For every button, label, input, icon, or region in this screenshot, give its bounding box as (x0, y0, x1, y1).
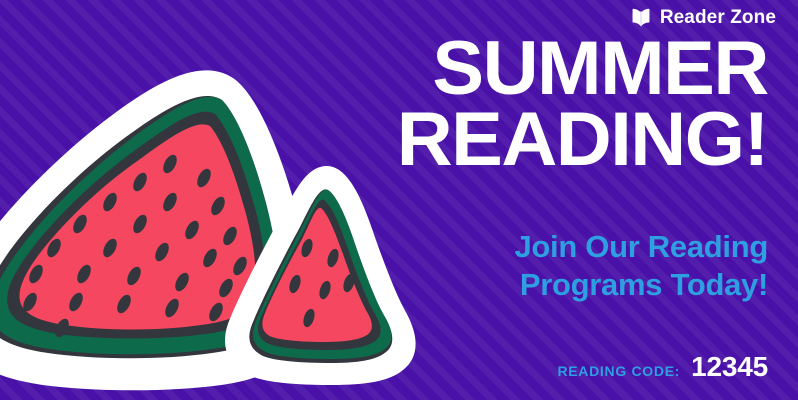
subtitle-line-2: Programs Today! (514, 266, 768, 304)
open-book-icon (630, 7, 652, 27)
brand-name: Reader Zone (660, 8, 776, 27)
headline-line-2: READING! (397, 105, 768, 176)
reading-code-label: READING CODE: (557, 363, 680, 379)
reading-code: READING CODE: 12345 (557, 351, 768, 383)
watermelon-slices-illustration (0, 78, 434, 400)
page-title: SUMMER READING! (404, 34, 768, 175)
reading-code-value: 12345 (691, 351, 768, 383)
summer-reading-banner: Reader Zone SUMMER READING! Join Our Rea… (0, 0, 798, 400)
subtitle: Join Our Reading Programs Today! (514, 228, 768, 304)
brand-logo[interactable]: Reader Zone (630, 7, 776, 27)
headline-line-1: SUMMER (397, 34, 768, 105)
subtitle-line-1: Join Our Reading (514, 228, 768, 266)
